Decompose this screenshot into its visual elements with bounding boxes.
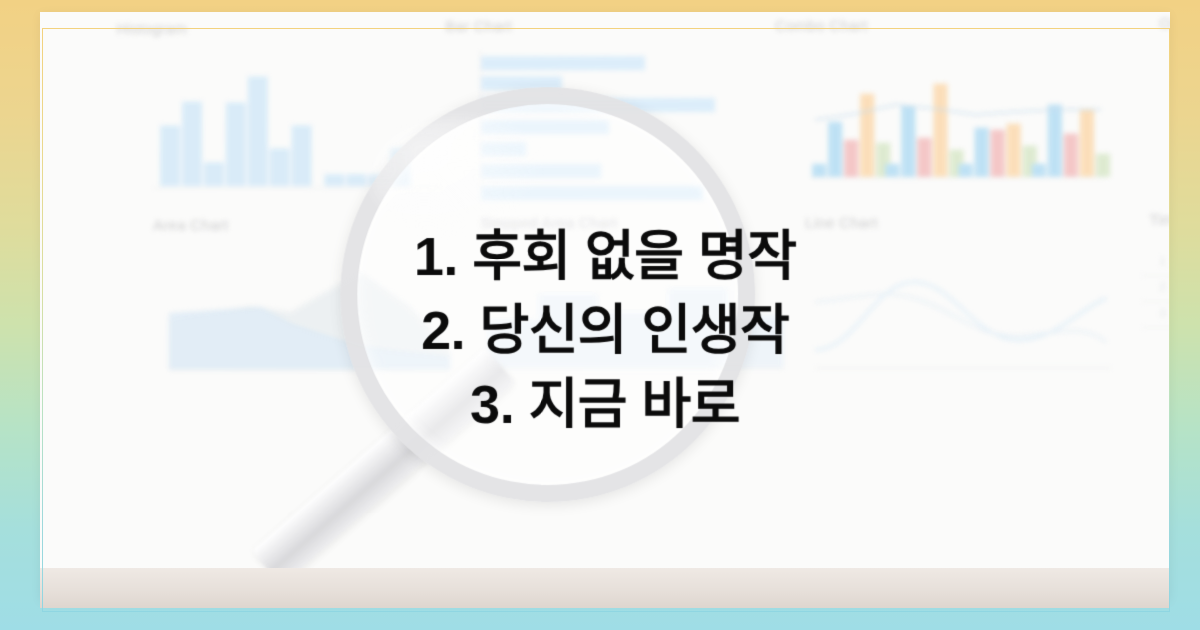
histogram-bar — [225, 101, 247, 187]
bar-chart-bar — [481, 98, 715, 112]
headline: 1. 후회 없을 명작 2. 당신의 인생작 3. 지금 바로 — [42, 220, 1170, 443]
slide-card: Histogram Bar Chart — [40, 12, 1170, 600]
bar-chart-bar — [481, 142, 526, 156]
bar-chart-bar — [481, 120, 609, 134]
histogram-bar — [181, 101, 203, 188]
histogram-axis — [153, 187, 442, 188]
slide-frame: Histogram Bar Chart — [0, 0, 1200, 630]
headline-line-3: 3. 지금 바로 — [42, 368, 1170, 443]
histogram-bar — [323, 173, 345, 187]
histogram-bar — [291, 124, 313, 187]
bar-chart-bar — [481, 164, 601, 178]
bar-chart-bar — [481, 76, 562, 90]
histogram-bar — [367, 173, 389, 187]
histogram-bar — [345, 173, 367, 187]
combo-chart-trend-line — [810, 71, 1111, 181]
panel-title-combo-chart: Combo Chart — [775, 18, 868, 35]
histogram-bar — [247, 75, 269, 187]
panel-title-histogram: Histogram — [117, 21, 188, 38]
headline-line-2: 2. 당신의 인생작 — [42, 294, 1170, 368]
bar-chart-bar — [481, 186, 703, 200]
panel-title-bar-chart: Bar Chart — [445, 18, 512, 35]
card-bottom-edge — [40, 568, 1170, 608]
histogram-bar — [269, 147, 291, 187]
bar-chart-bar — [481, 56, 645, 70]
histogram-bar — [159, 124, 181, 187]
headline-line-1: 1. 후회 없을 명작 — [42, 220, 1170, 294]
histogram-bar — [389, 147, 411, 187]
histogram-bar — [203, 161, 225, 187]
panel-title-org-chart: Org Chart — [1159, 15, 1170, 32]
